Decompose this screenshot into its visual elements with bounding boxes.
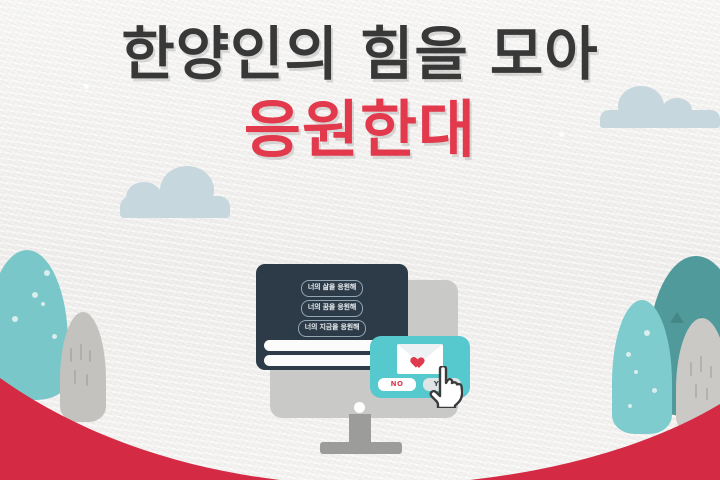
promo-poster: 너의 삶을 응원해 너의 꿈을 응원해 너의 지금을 응원해 NO YES 한양… bbox=[0, 0, 720, 480]
tree-dot bbox=[44, 270, 50, 276]
chat-message-bubble: 너의 삶을 응원해 bbox=[301, 280, 363, 297]
page-title-line2: 응원한대 bbox=[0, 97, 720, 162]
red-wave-shape bbox=[0, 300, 720, 480]
headline-block: 한양인의 힘을 모아 응원한대 bbox=[0, 24, 720, 162]
cloud-icon-left bbox=[120, 196, 230, 218]
tree-dot bbox=[32, 292, 38, 298]
page-title-line1: 한양인의 힘을 모아 bbox=[0, 24, 720, 85]
